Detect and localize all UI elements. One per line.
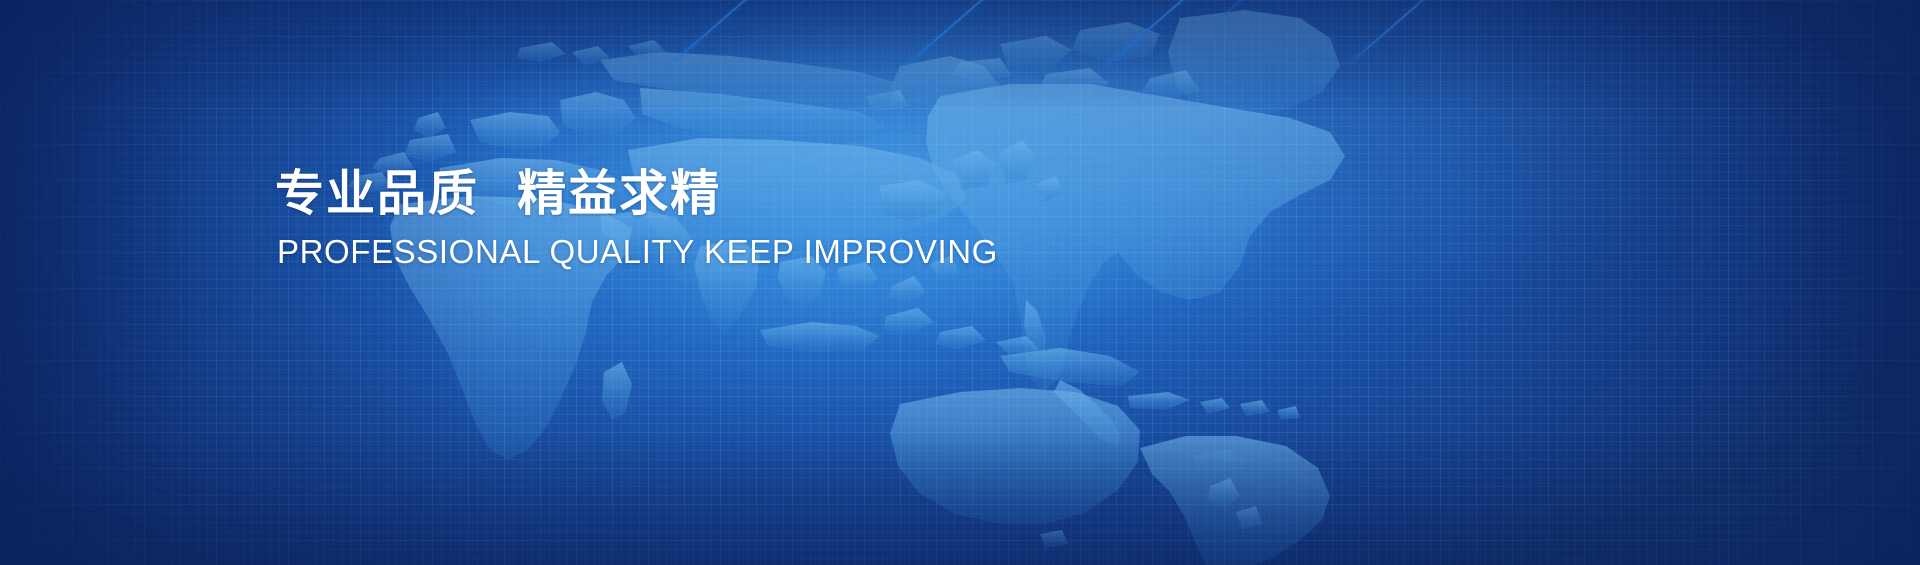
world-map-icon <box>0 0 1920 565</box>
hero-banner: 专业品质 精益求精 PROFESSIONAL QUALITY KEEP IMPR… <box>0 0 1920 565</box>
headline-chinese: 专业品质 精益求精 <box>275 166 998 223</box>
subheadline-english: PROFESSIONAL QUALITY KEEP IMPROVING <box>277 232 998 272</box>
slogan-block: 专业品质 精益求精 PROFESSIONAL QUALITY KEEP IMPR… <box>275 166 998 271</box>
